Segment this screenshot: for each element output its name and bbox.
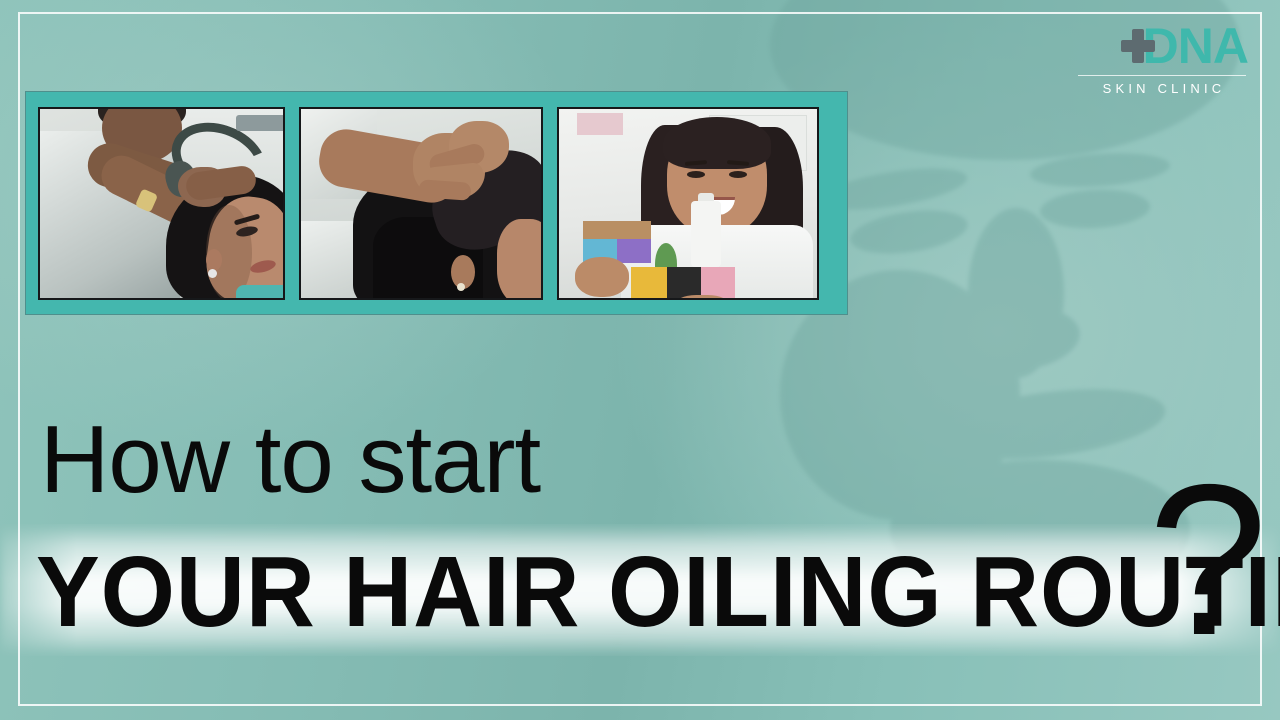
photo-scalp-examination xyxy=(38,107,285,300)
question-mark: ? xyxy=(1148,452,1268,667)
photo3-fringe xyxy=(663,117,771,169)
photo3-box-3 xyxy=(631,267,667,300)
photo-strip xyxy=(25,91,848,315)
photo2-patient-face xyxy=(497,219,543,300)
photo-product-display xyxy=(557,107,819,300)
video-thumbnail: DNA SKIN CLINIC How to start YOUR HAIR O… xyxy=(0,0,1280,720)
photo3-bottle xyxy=(691,201,721,267)
title-line-1: How to start xyxy=(40,412,540,508)
photo3-left-eye xyxy=(687,171,705,178)
photo1-patient-ear xyxy=(206,249,222,271)
photo3-wall-poster xyxy=(577,113,623,135)
logo-wordmark-row: DNA xyxy=(1076,22,1248,70)
photo-hair-parting xyxy=(299,107,543,300)
photo1-device-head xyxy=(236,115,285,131)
photo1-patient-earring xyxy=(208,269,217,278)
photo3-hand-upper xyxy=(575,257,629,297)
logo-tagline: SKIN CLINIC xyxy=(1076,82,1248,95)
photo3-right-eye xyxy=(729,171,747,178)
clinic-logo: DNA SKIN CLINIC xyxy=(1076,22,1248,95)
title-line-2: YOUR HAIR OILING ROUTINE xyxy=(36,542,1280,642)
photo2-patient-earring xyxy=(457,283,465,291)
logo-brand-text: DNA xyxy=(1143,21,1248,71)
photo2-finger-3 xyxy=(418,179,471,201)
medical-cross-icon xyxy=(1121,29,1155,63)
photo1-chair-cover xyxy=(236,285,285,300)
logo-divider xyxy=(1078,75,1246,76)
headline-block: YOUR HAIR OILING ROUTINE xyxy=(0,524,1280,656)
photo3-box-2-label xyxy=(617,239,651,263)
